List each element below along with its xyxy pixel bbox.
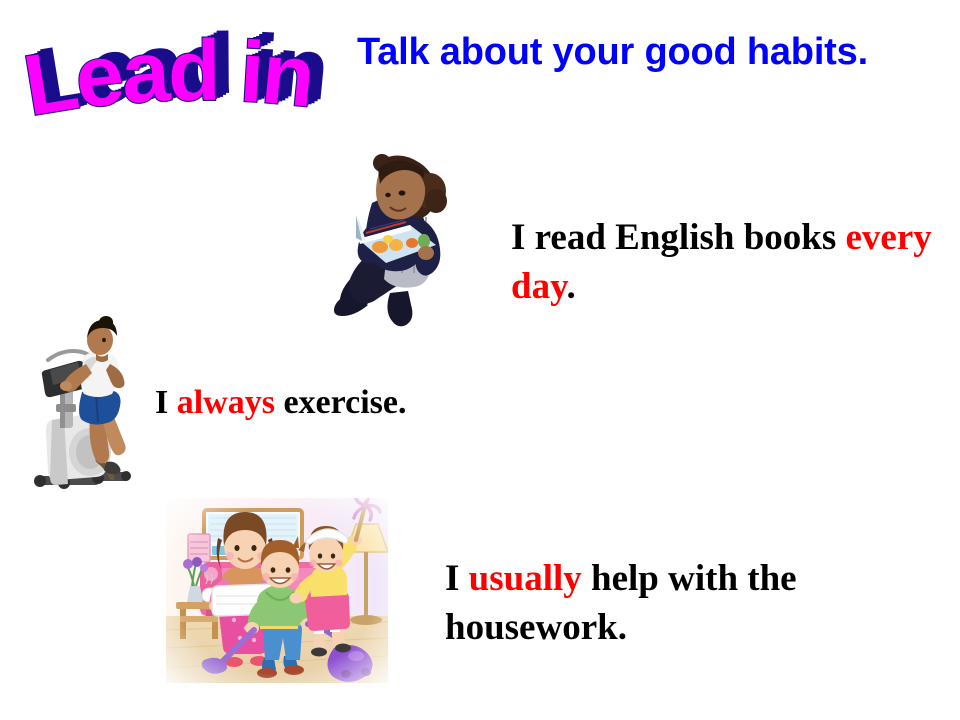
clipart-family-doing-housework-art bbox=[166, 498, 388, 683]
sentence-housework: I usually help with the housework. bbox=[445, 555, 945, 653]
sentence-exercise-part-2: exercise. bbox=[275, 384, 407, 421]
slide-canvas: Lead in Lead in Lead in Lead in Lead in … bbox=[0, 0, 960, 720]
page-title: Talk about your good habits. bbox=[357, 28, 877, 77]
clipart-family-doing-housework bbox=[166, 498, 388, 683]
wordart-lead-in: Lead in Lead in Lead in Lead in Lead in … bbox=[22, 8, 352, 138]
photo-child-reading-book bbox=[318, 143, 466, 338]
clipart-woman-exercise-bike bbox=[30, 312, 142, 500]
sentence-housework-highlight: usually bbox=[469, 558, 582, 599]
sentence-exercise-part-0: I bbox=[155, 384, 177, 421]
wordart-face: Lead in bbox=[22, 23, 316, 135]
wordart-lead-in-svg: Lead in Lead in Lead in Lead in Lead in … bbox=[22, 8, 352, 138]
sentence-reading: I read English books every day. bbox=[511, 214, 941, 312]
sentence-exercise-highlight: always bbox=[177, 384, 275, 421]
photo-child-reading-book-art bbox=[318, 143, 466, 338]
sentence-housework-part-0: I bbox=[445, 558, 469, 599]
sentence-reading-part-2: . bbox=[567, 266, 576, 307]
sentence-exercise: I always exercise. bbox=[155, 381, 555, 426]
sentence-reading-part-0: I read English books bbox=[511, 217, 846, 258]
clipart-woman-exercise-bike-art bbox=[30, 312, 142, 500]
